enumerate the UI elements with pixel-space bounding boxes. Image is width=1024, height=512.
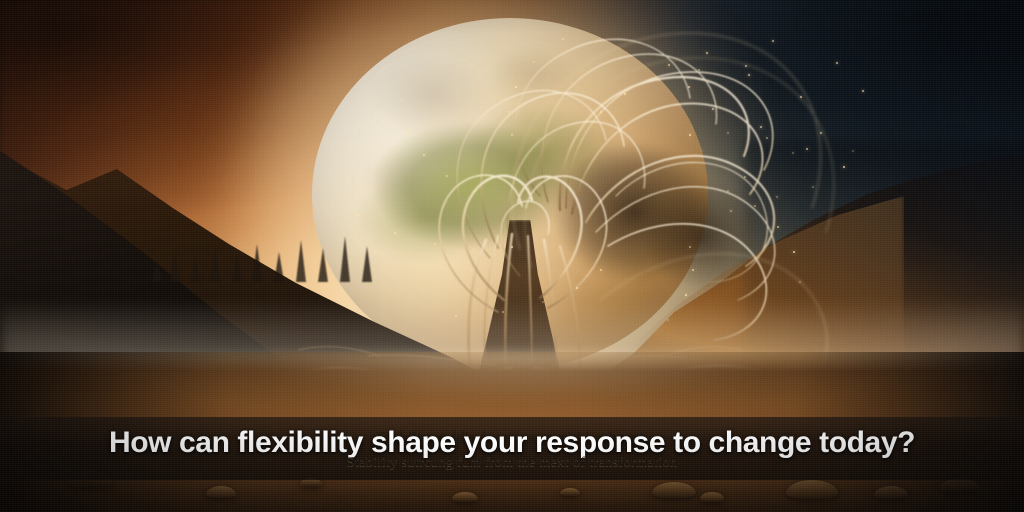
caption-subtitle: Stability sutrcung fum from the mext of … (0, 455, 1024, 471)
image-canvas: Stabiliy arddly hermo sur withi ashorge … (0, 0, 1024, 512)
